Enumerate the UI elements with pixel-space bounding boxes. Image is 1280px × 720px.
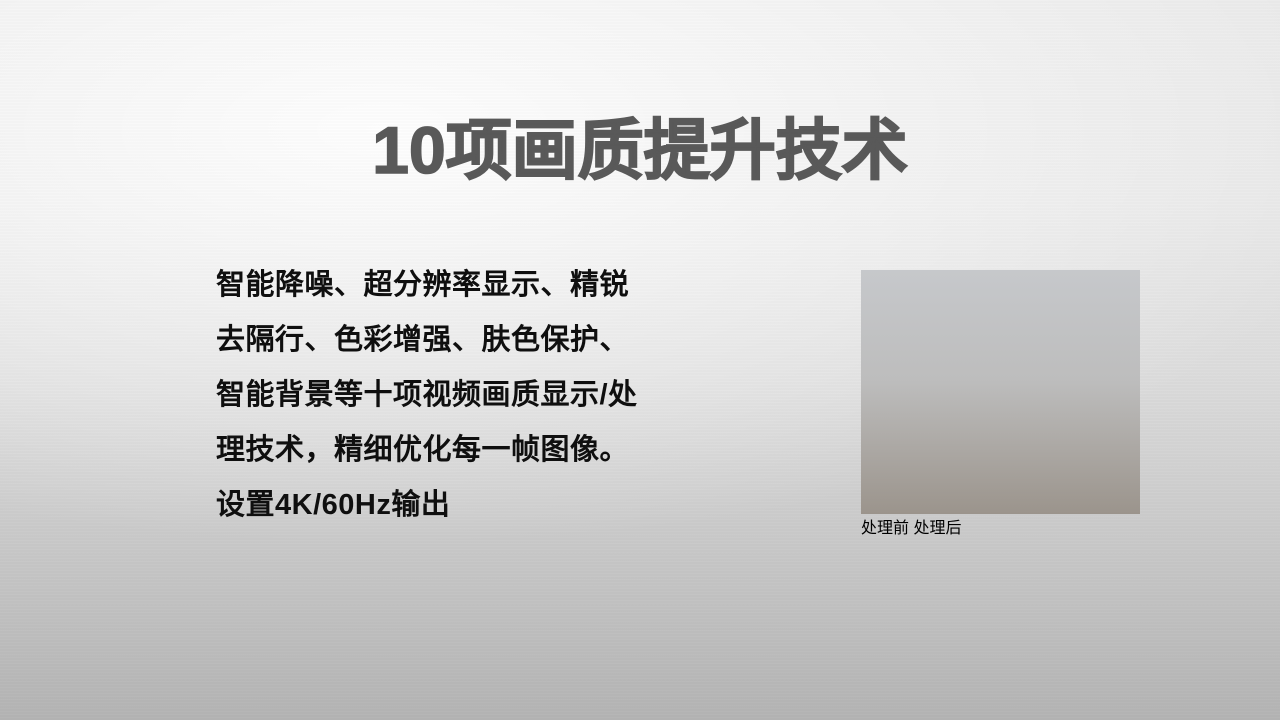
body-line: 智能背景等十项视频画质显示/处 — [216, 368, 716, 423]
photo-before — [861, 270, 1001, 514]
comparison-captions: 处理前 处理后 — [861, 514, 1140, 538]
portrait-scene-after — [1001, 270, 1141, 514]
portrait-scene-before — [861, 270, 1001, 514]
comparison-photo — [861, 270, 1140, 514]
page-title: 10项画质提升技术 — [0, 110, 1280, 190]
caption-before: 处理前 — [861, 520, 909, 537]
comparison-figure: 处理前 处理后 — [861, 270, 1140, 538]
photo-after — [1001, 270, 1141, 514]
body-copy: 智能降噪、超分辨率显示、精锐 去隔行、色彩增强、肤色保护、 智能背景等十项视频画… — [216, 258, 716, 533]
body-line: 理技术，精细优化每一帧图像。 — [216, 423, 716, 478]
slide-canvas: 10项画质提升技术 智能降噪、超分辨率显示、精锐 去隔行、色彩增强、肤色保护、 … — [0, 0, 1280, 720]
body-line: 设置4K/60Hz输出 — [216, 478, 716, 533]
body-line: 智能降噪、超分辨率显示、精锐 — [216, 258, 716, 313]
body-line: 去隔行、色彩增强、肤色保护、 — [216, 313, 716, 368]
hair — [1001, 270, 1141, 514]
hair — [861, 270, 1001, 514]
caption-after: 处理后 — [913, 520, 961, 537]
